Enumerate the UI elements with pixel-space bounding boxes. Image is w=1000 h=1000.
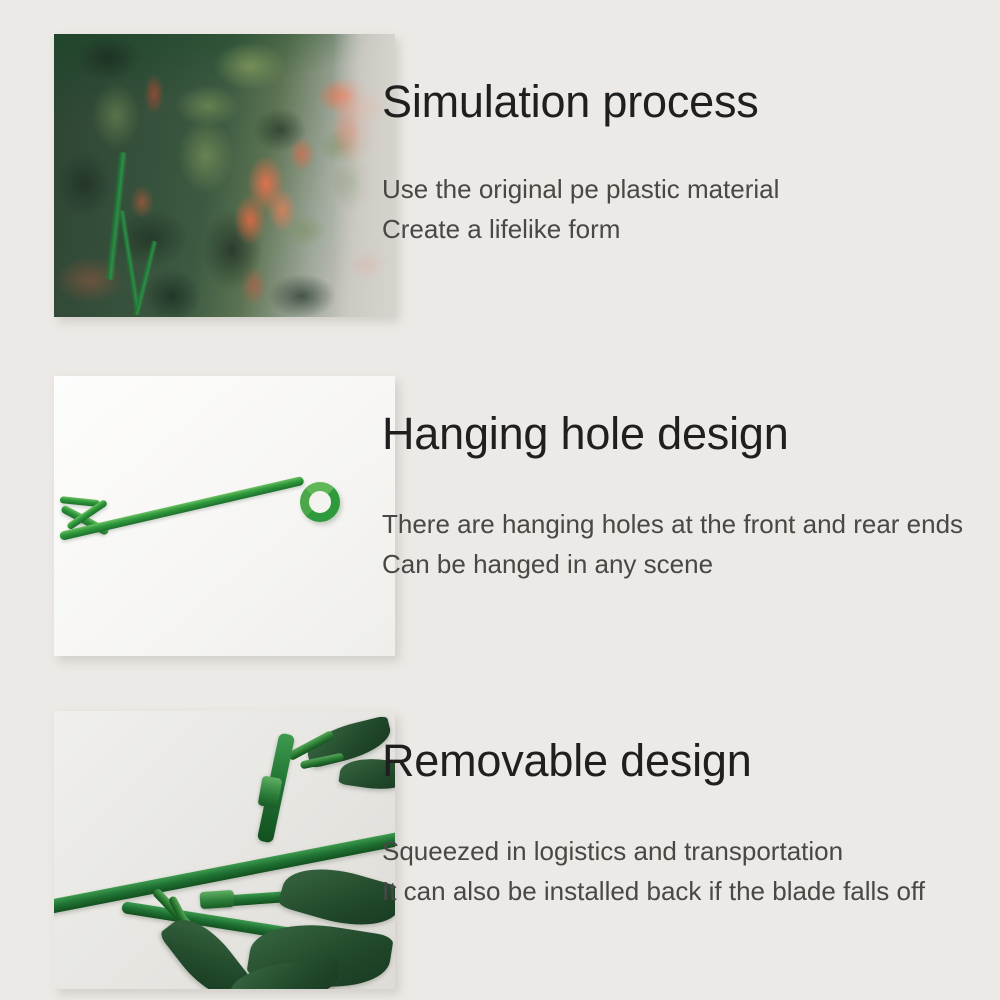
feature-photo-panel-3 [54, 711, 395, 989]
feature-description-line: There are hanging holes at the front and… [382, 505, 992, 545]
feature-title-1: Simulation process [382, 78, 992, 125]
joint-sleeve-icon [199, 890, 234, 909]
feature-text-block-3: Removable design Squeezed in logistics a… [382, 737, 992, 911]
foliage-photo [54, 34, 395, 317]
feature-description-line: Use the original pe plastic material [382, 170, 992, 210]
feature-description-list-1: Use the original pe plastic material Cre… [382, 170, 992, 249]
feature-description-line: Create a lifelike form [382, 210, 992, 250]
feature-title-3: Removable design [382, 737, 992, 784]
feature-description-line: It can also be installed back if the bla… [382, 872, 992, 912]
feature-description-line: Squeezed in logistics and transportation [382, 832, 992, 872]
feature-text-block-1: Simulation process Use the original pe p… [382, 78, 992, 249]
feature-row-simulation-process: Simulation process Use the original pe p… [0, 0, 1000, 330]
feature-row-removable-design: Removable design Squeezed in logistics a… [0, 675, 1000, 1000]
hanging-hole-ring-icon [300, 482, 340, 522]
feature-description-list-3: Squeezed in logistics and transportation… [382, 832, 992, 911]
feature-photo-panel-1 [54, 34, 395, 317]
feature-row-hanging-hole-design: Hanging hole design There are hanging ho… [0, 340, 1000, 660]
foliage-stem-icon [133, 240, 158, 315]
removable-joint-photo [54, 711, 395, 989]
feature-title-2: Hanging hole design [382, 410, 992, 457]
feature-photo-panel-2 [54, 376, 395, 656]
feature-description-list-2: There are hanging holes at the front and… [382, 505, 992, 584]
product-feature-infographic: Simulation process Use the original pe p… [0, 0, 1000, 1000]
feature-text-block-2: Hanging hole design There are hanging ho… [382, 410, 992, 584]
feature-description-line: Can be hanged in any scene [382, 545, 992, 585]
hanging-loop-photo [54, 376, 395, 656]
